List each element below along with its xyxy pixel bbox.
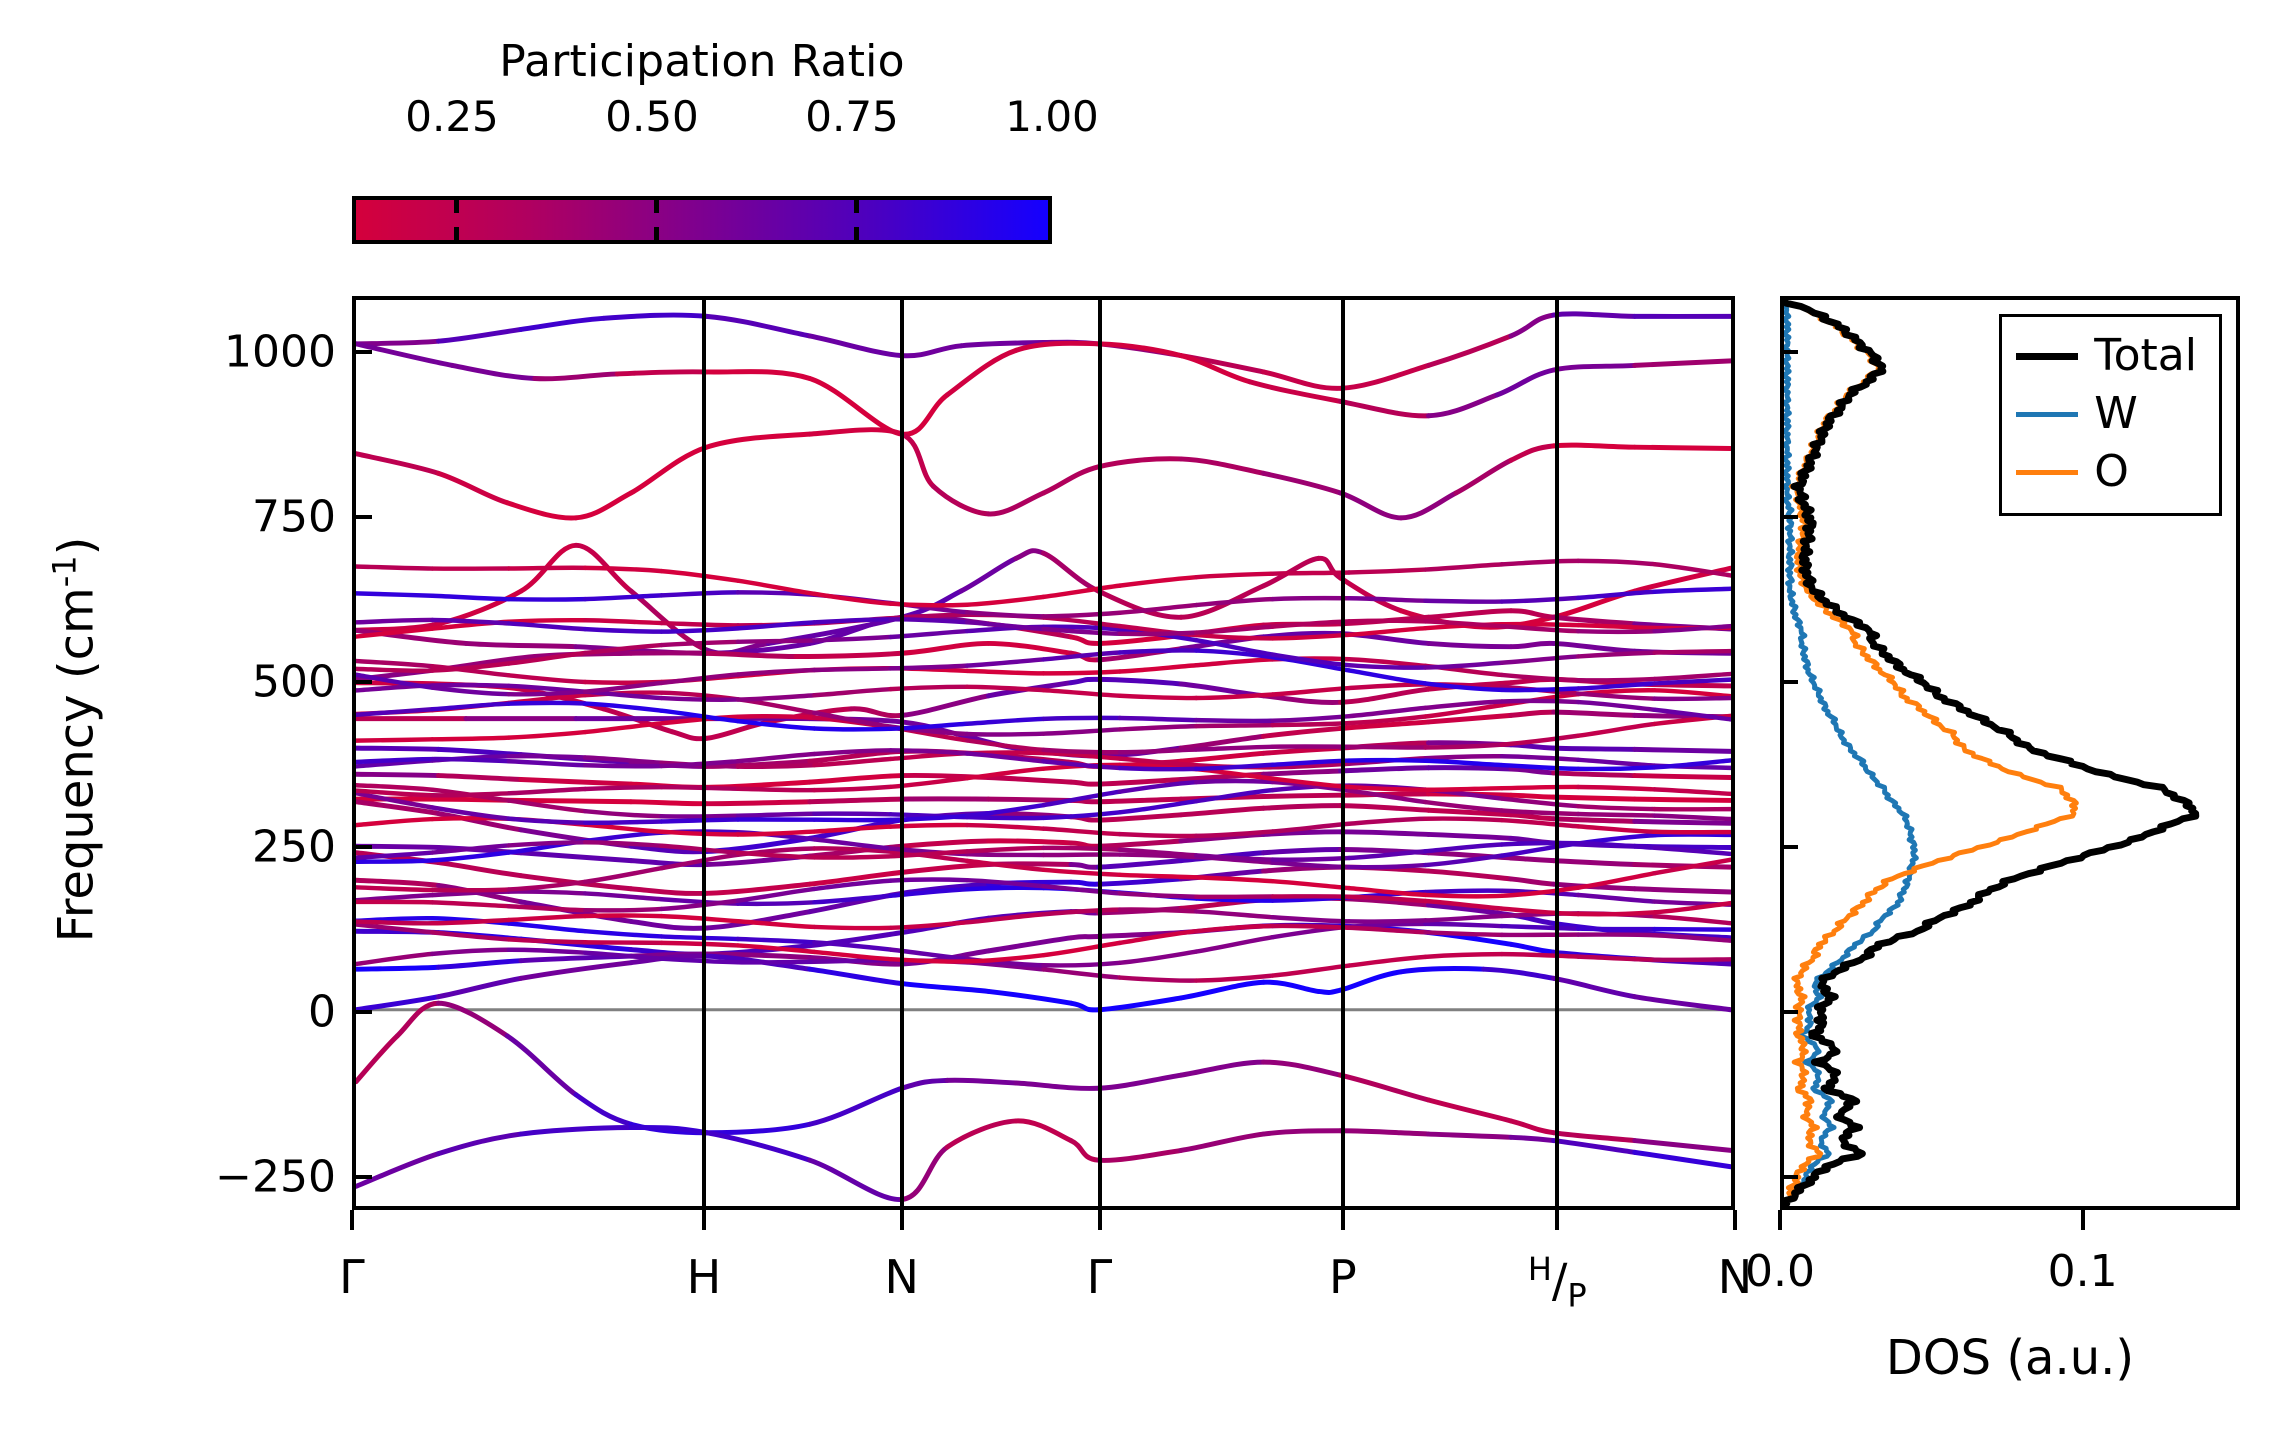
colorbar-tick-mark — [654, 227, 659, 240]
colorbar-tick-mark — [654, 200, 659, 213]
y-axis-tick-mark — [352, 515, 372, 519]
y-axis-title-tail: ) — [49, 537, 105, 556]
y-axis-tick-label: 250 — [252, 822, 336, 873]
x-axis-tick-label: Γ — [1087, 1250, 1113, 1304]
legend-item: O — [2016, 443, 2197, 501]
y-axis-tick-label: 750 — [252, 492, 336, 543]
colorbar-tick-label: 0.50 — [605, 92, 699, 141]
figure-canvas: Participation Ratio 0.250.500.751.00 Fre… — [0, 0, 2271, 1455]
legend-item: Total — [2016, 327, 2197, 385]
colorbar-tick-label: 0.75 — [805, 92, 899, 141]
x-axis-tick-label: H — [687, 1250, 722, 1304]
legend-label: Total — [2094, 334, 2197, 378]
legend-line-swatch — [2016, 470, 2078, 475]
x-axis-tick-label: H/P — [1528, 1250, 1587, 1315]
band-structure-plot — [352, 296, 1735, 1210]
x-axis-tick-mark — [1733, 1210, 1737, 1230]
colorbar-tick-mark — [454, 200, 459, 213]
x-axis-tick-mark — [702, 1210, 706, 1230]
dos-y-axis-tick-mark — [1780, 845, 1798, 849]
x-axis-tick-mark — [350, 1210, 354, 1230]
legend-label: O — [2094, 450, 2129, 494]
dos-x-axis-tick-mark — [1778, 1210, 1782, 1230]
y-axis-tick-mark — [352, 350, 372, 354]
x-axis-tick-mark — [1341, 1210, 1345, 1230]
dos-x-axis-tick-label: 0.0 — [1745, 1246, 1815, 1297]
y-axis-title-text: Frequency (cm — [49, 587, 105, 942]
band-curves — [356, 300, 1731, 1206]
band-curve — [356, 925, 1731, 969]
y-axis-tick-mark — [352, 1010, 372, 1014]
band-curve — [356, 343, 1731, 434]
x-axis-tick-mark — [900, 1210, 904, 1230]
dos-plot: TotalWO — [1780, 296, 2240, 1210]
colorbar-tick-mark — [454, 227, 459, 240]
colorbar-tick-label: 0.25 — [405, 92, 499, 141]
colorbar-tick-mark — [854, 200, 859, 213]
y-axis-tick-label: 0 — [308, 987, 336, 1038]
x-axis-tick-label: Γ — [339, 1250, 365, 1304]
band-curve — [356, 1121, 1731, 1200]
y-axis-tick-mark — [352, 1175, 372, 1179]
y-axis-tick-label: −250 — [215, 1152, 336, 1203]
dos-y-axis-tick-mark — [1780, 1175, 1798, 1179]
colorbar-tick-label: 1.00 — [1005, 92, 1099, 141]
legend-label: W — [2094, 392, 2138, 436]
dos-y-axis-tick-mark — [1780, 1010, 1798, 1014]
colorbar-tick-mark — [854, 227, 859, 240]
high-symmetry-separator — [1341, 296, 1345, 1210]
high-symmetry-separator — [1555, 296, 1559, 1210]
dos-y-axis-tick-mark — [1780, 350, 1798, 354]
y-axis-title: Frequency (cm-1) — [46, 460, 105, 1020]
high-symmetry-separator — [900, 296, 904, 1210]
colorbar-title: Participation Ratio — [352, 36, 1052, 87]
x-axis-tick-mark — [1098, 1210, 1102, 1230]
x-axis-tick-mark — [1555, 1210, 1559, 1230]
x-axis-tick-label: N — [885, 1250, 919, 1304]
high-symmetry-separator — [1098, 296, 1102, 1210]
legend-line-swatch — [2016, 353, 2078, 360]
x-axis-tick-label: P — [1329, 1250, 1357, 1304]
colorbar — [352, 196, 1052, 244]
dos-legend: TotalWO — [1999, 314, 2222, 516]
y-axis-tick-mark — [352, 845, 372, 849]
colorbar-tick-labels: 0.250.500.751.00 — [352, 92, 1052, 142]
legend-line-swatch — [2016, 412, 2078, 417]
y-axis-tick-label: 500 — [252, 657, 336, 708]
dos-x-axis-tick-label: 0.1 — [2048, 1246, 2118, 1297]
colorbar-gradient — [356, 200, 1048, 240]
band-curve — [356, 430, 1731, 518]
y-axis-tick-label: 1000 — [224, 327, 336, 378]
y-axis-title-superscript: -1 — [46, 555, 84, 587]
y-axis-tick-mark — [352, 680, 372, 684]
dos-y-axis-tick-mark — [1780, 515, 1798, 519]
high-symmetry-separator — [702, 296, 706, 1210]
legend-item: W — [2016, 385, 2197, 443]
dos-x-axis-tick-mark — [2081, 1210, 2085, 1230]
dos-x-axis-title: DOS (a.u.) — [1780, 1330, 2240, 1386]
dos-y-axis-tick-mark — [1780, 680, 1798, 684]
